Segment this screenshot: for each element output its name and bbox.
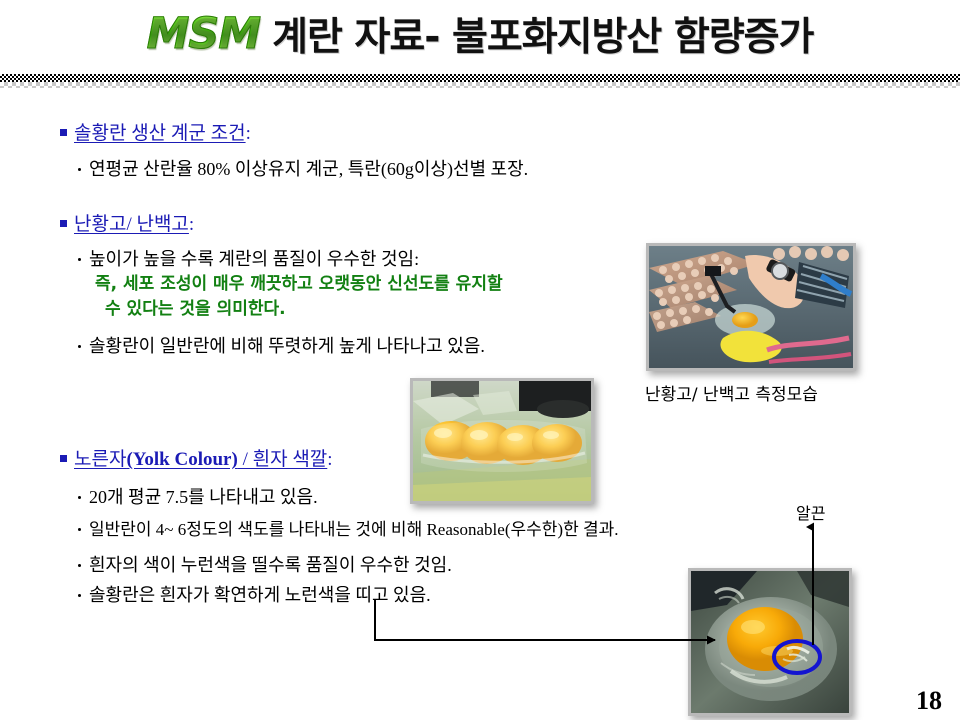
section-heading-2: 난황고/ 난백고:: [60, 209, 194, 236]
bullet-1-1-text: 연평균 산란율 80% 이상유지 계군, 특란(60g이상)선별 포장.: [89, 159, 528, 179]
title-main-text: 계란 자료- 불포화지방산 함량증가: [272, 15, 813, 60]
dot-bullet-icon: [78, 258, 81, 261]
section-heading-1-colon: :: [246, 123, 251, 144]
green-note-2-line-1: 즉, 세포 조성이 매우 깨끗하고 오랫동안 신선도를 유지할: [95, 272, 503, 297]
bullet-2-2-text: 솔황란이 일반란에 비해 뚜렷하게 높게 나타나고 있음.: [89, 336, 485, 356]
bullet-3-3-text: 흰자의 색이 누런색을 띨수록 품질이 우수한 것임.: [89, 555, 452, 575]
title-logo-msm: MSM: [147, 9, 261, 59]
haugh-unit-measurement-caption: 난황고/ 난백고 측정모습: [645, 380, 818, 405]
divider-checker-band: [0, 74, 960, 82]
title-divider: [0, 74, 960, 88]
dot-bullet-icon: [78, 528, 81, 531]
section-heading-2-colon: :: [189, 214, 194, 235]
dot-bullet-icon: [78, 496, 81, 499]
green-note-2: 즉, 세포 조성이 매우 깨끗하고 오랫동안 신선도를 유지할 수 있다는 것을…: [95, 272, 503, 322]
page-number: 18: [916, 686, 942, 716]
dot-bullet-icon: [78, 564, 81, 567]
section-heading-3-en: (Yolk Colour): [126, 449, 237, 470]
yolk-colour-image: [413, 381, 591, 501]
bullet-3-2-text: 일반란이 4~ 6정도의 색도를 나타내는 것에 비해 Reasonable(우…: [89, 520, 619, 539]
chalaza-annotation-label: 알끈: [796, 500, 825, 524]
green-note-2-line-2: 수 있다는 것을 의미한다.: [95, 297, 503, 322]
section-heading-3-colon: :: [327, 449, 332, 470]
dot-bullet-icon: [78, 345, 81, 348]
section-heading-3-kor1: 노른자: [74, 449, 126, 470]
bullet-2-2: 솔황란이 일반란에 비해 뚜렷하게 높게 나타나고 있음.: [78, 332, 485, 358]
bullet-3-1-text: 20개 평균 7.5를 나타내고 있음.: [89, 487, 318, 507]
bullet-2-1: 높이가 높을 수록 계란의 품질이 우수한 것임:: [78, 245, 419, 271]
divider-dot-band: [0, 82, 960, 88]
bullet-3-4-text: 솔황란은 흰자가 확연하게 노런색을 띠고 있음.: [89, 585, 431, 605]
haugh-unit-measurement-photo: [646, 243, 856, 371]
slide-canvas: MSM계란 자료- 불포화지방산 함량증가 솔황란 생산 계군 조건: 연평균 …: [0, 0, 960, 720]
bullet-1-1: 연평균 산란율 80% 이상유지 계군, 특란(60g이상)선별 포장.: [78, 155, 528, 181]
section-heading-1: 솔황란 생산 계군 조건:: [60, 118, 251, 145]
section-heading-1-text: 솔황란 생산 계군 조건: [74, 123, 246, 144]
section-heading-2-text: 난황고/ 난백고: [74, 214, 189, 235]
dot-bullet-icon: [78, 168, 81, 171]
square-bullet-icon: [60, 220, 67, 227]
bullet-3-1: 20개 평균 7.5를 나타내고 있음.: [78, 483, 318, 509]
square-bullet-icon: [60, 455, 67, 462]
square-bullet-icon: [60, 129, 67, 136]
yolk-colour-photo: [410, 378, 594, 504]
section-heading-3: 노른자(Yolk Colour) / 흰자 색깔:: [60, 444, 333, 471]
chalaza-image: [691, 571, 849, 713]
bullet-3-4: 솔황란은 흰자가 확연하게 노런색을 띠고 있음.: [78, 581, 431, 607]
bullet-3-3: 흰자의 색이 누런색을 띨수록 품질이 우수한 것임.: [78, 551, 452, 577]
chalaza-photo: [688, 568, 852, 716]
haugh-unit-measurement-image: [649, 246, 853, 368]
slide-title: MSM계란 자료- 불포화지방산 함량증가: [0, 6, 960, 68]
bullet-3-2: 일반란이 4~ 6정도의 색도를 나타내는 것에 비해 Reasonable(우…: [78, 515, 619, 540]
bullet-2-1-text: 높이가 높을 수록 계란의 품질이 우수한 것임:: [89, 249, 419, 269]
dot-bullet-icon: [78, 594, 81, 597]
section-heading-3-kor2: / 흰자 색깔: [238, 449, 327, 470]
